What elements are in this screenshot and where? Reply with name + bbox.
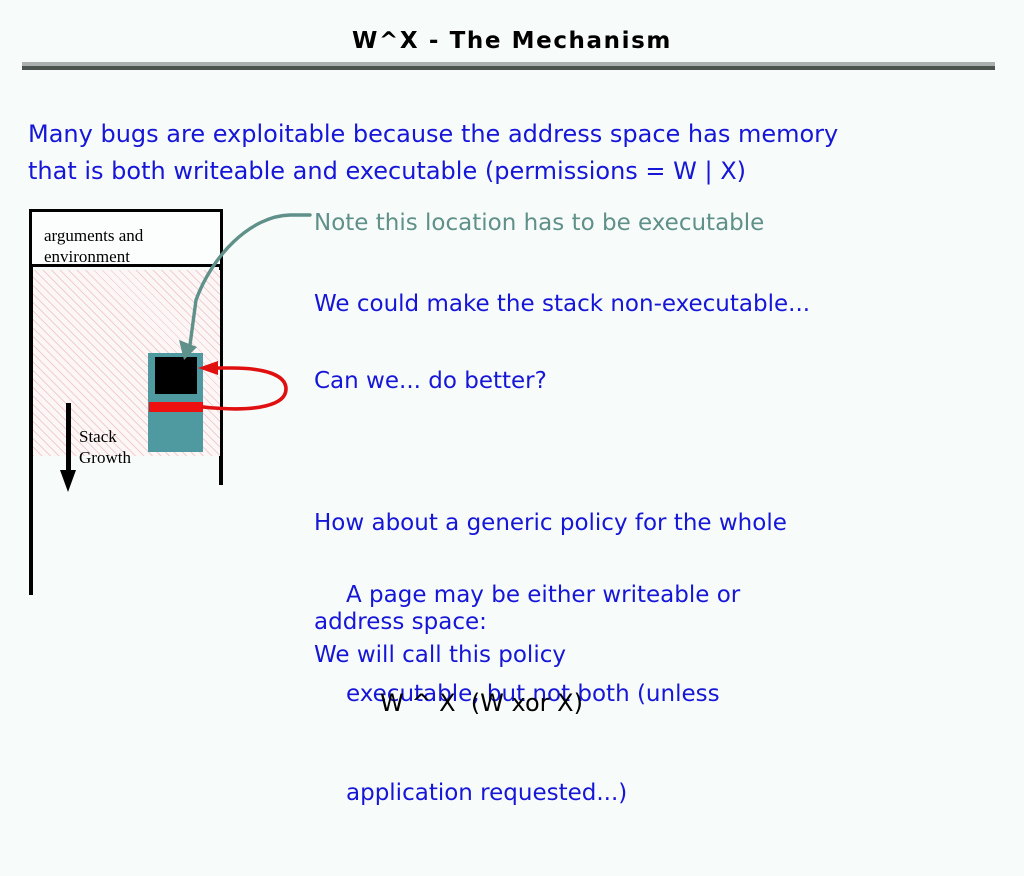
arguments-environment-label: arguments and environment [44,225,219,267]
stack-growth-line-2: Growth [79,447,169,468]
stack-growth-arrow-shaft [66,403,71,475]
bullet-do-better: Can we... do better? [314,365,547,398]
bullet-nonexecutable-stack: We could make the stack non-executable..… [314,288,810,321]
argbox-line-2: environment [44,246,219,267]
stack-growth-arrow-head [60,470,76,492]
policy-formula: W ^ X (W xor X) [380,689,583,717]
slide-canvas: W^X - The Mechanism Many bugs are exploi… [0,0,1024,768]
argbox-line-1: arguments and [44,225,219,246]
return-address-bar [149,402,203,412]
shellcode-block [155,357,197,394]
sub-line-1: A page may be either writeable or [346,579,906,612]
sub-line-3: application requested...) [346,777,906,810]
stack-growth-line-1: Stack [79,426,169,447]
stack-growth-label: Stack Growth [79,426,169,468]
memory-layout-diagram: arguments and environment Stack Growth [0,0,340,768]
callout-note-text: Note this location has to be executable [314,210,764,236]
bullet-call-this-policy: We will call this policy [314,639,566,672]
